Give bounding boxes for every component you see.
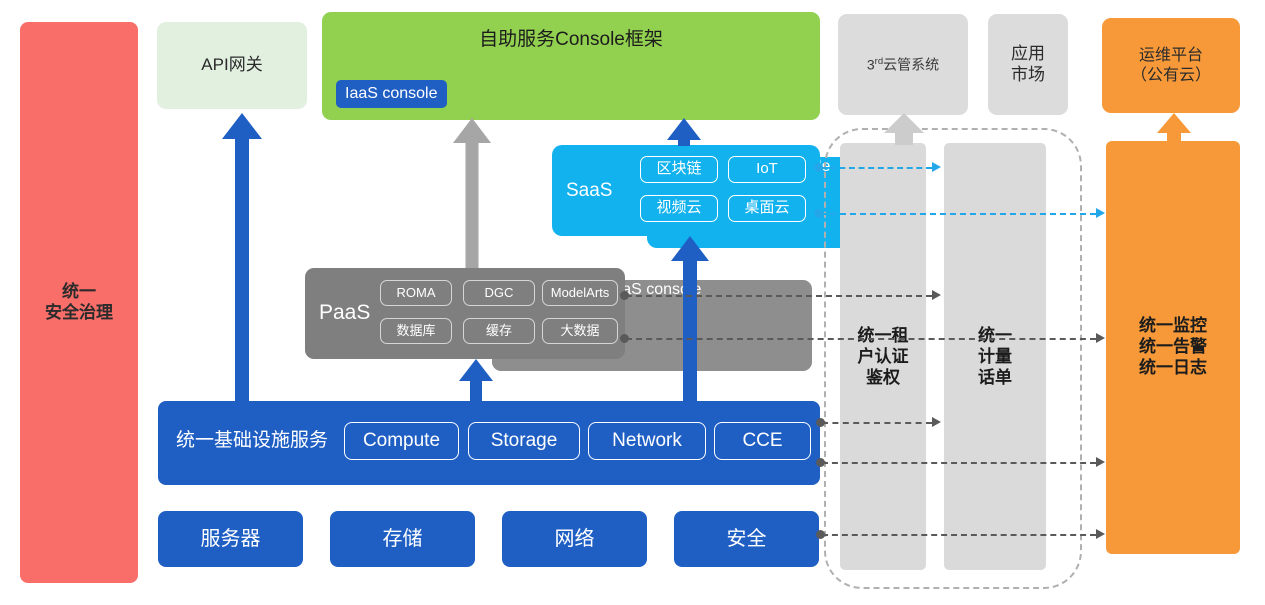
security-governance-label: 统一安全治理	[45, 282, 113, 323]
saas-layer-label: SaaS	[566, 179, 612, 202]
ops-platform-label: 运维平台（公有云）	[1131, 46, 1211, 85]
hardware-network-box[interactable]: 网络	[502, 511, 647, 567]
saas-service-iot[interactable]: IoT	[728, 156, 806, 183]
hardware-storage-box[interactable]: 存储	[330, 511, 475, 567]
arrow-infra-to-paas	[456, 359, 496, 402]
paas-layer-label: PaaS	[319, 300, 370, 326]
hardware-server-box[interactable]: 服务器	[158, 511, 303, 567]
shared-service-auth-column[interactable]: 统一租户认证鉴权	[840, 143, 926, 570]
connector-saas-to-auth	[820, 167, 932, 169]
arrow-infra-to-api-gateway	[222, 113, 262, 401]
arrow-paas-to-console	[452, 118, 492, 268]
saas-service-desktop-cloud[interactable]: 桌面云	[728, 195, 806, 222]
connector-saas-to-ops	[820, 213, 1096, 215]
console-framework-box[interactable]: 自助服务Console框架 IaaS console PaaS console …	[322, 12, 820, 120]
console-framework-title: 自助服务Console框架	[322, 28, 820, 51]
api-gateway-box[interactable]: API网关	[157, 22, 307, 109]
app-market-box[interactable]: 应用市场	[988, 14, 1068, 115]
connector-infra-to-auth	[822, 422, 932, 424]
third-party-cloud-mgmt-label: 3rd云管系统	[867, 56, 939, 74]
shared-service-billing-column[interactable]: 统一计量话单	[944, 143, 1046, 570]
connector-paas-to-auth	[626, 295, 932, 297]
paas-service-database[interactable]: 数据库	[380, 318, 452, 344]
paas-service-bigdata[interactable]: 大数据	[542, 318, 618, 344]
paas-service-dgc[interactable]: DGC	[463, 280, 535, 306]
connector-arrowhead-saas-1	[932, 162, 941, 172]
connector-arrowhead-paas-2	[1096, 333, 1105, 343]
connector-arrowhead-paas-1	[932, 290, 941, 300]
connector-arrowhead-infra-1	[932, 417, 941, 427]
saas-service-blockchain[interactable]: 区块链	[640, 156, 718, 183]
infra-service-cce[interactable]: CCE	[714, 422, 811, 460]
third-party-cloud-mgmt-box[interactable]: 3rd云管系统	[838, 14, 968, 115]
arrow-saas-to-console	[664, 118, 704, 146]
connector-hardware-to-ops	[822, 534, 1096, 536]
saas-layer-box[interactable]: SaaS 区块链 IoT 视频云 桌面云	[552, 145, 820, 236]
hardware-security-box[interactable]: 安全	[674, 511, 819, 567]
paas-service-cache[interactable]: 缓存	[463, 318, 535, 344]
saas-service-video-cloud[interactable]: 视频云	[640, 195, 718, 222]
paas-service-roma[interactable]: ROMA	[380, 280, 452, 306]
arrow-shared-to-third-party	[882, 113, 926, 145]
infra-service-compute[interactable]: Compute	[344, 422, 459, 460]
ops-monitoring-column[interactable]: 统一监控统一告警统一日志	[1106, 141, 1240, 554]
ops-monitoring-label: 统一监控统一告警统一日志	[1139, 316, 1207, 378]
architecture-diagram: 统一安全治理 API网关 自助服务Console框架 IaaS console …	[0, 0, 1265, 605]
infra-service-storage[interactable]: Storage	[468, 422, 580, 460]
app-market-label: 应用市场	[1011, 44, 1045, 85]
unified-infrastructure-label: 统一基础设施服务	[176, 429, 328, 452]
connector-arrowhead-hardware	[1096, 529, 1105, 539]
connector-arrowhead-saas-2	[1096, 208, 1105, 218]
arrow-infra-to-saas	[670, 236, 710, 402]
connector-paas-to-ops	[626, 338, 1096, 340]
connector-arrowhead-infra-2	[1096, 457, 1105, 467]
paas-layer-box[interactable]: PaaS ROMA DGC ModelArts 数据库 缓存 大数据	[305, 268, 625, 359]
api-gateway-label: API网关	[201, 55, 262, 76]
arrow-ops-column-to-platform	[1155, 113, 1193, 143]
unified-infrastructure-box[interactable]: 统一基础设施服务 Compute Storage Network CCE	[158, 401, 820, 485]
iaas-console-button[interactable]: IaaS console	[336, 80, 447, 108]
infra-service-network[interactable]: Network	[588, 422, 706, 460]
paas-service-modelarts[interactable]: ModelArts	[542, 280, 618, 306]
connector-infra-to-ops	[822, 462, 1096, 464]
ops-platform-box[interactable]: 运维平台（公有云）	[1102, 18, 1240, 113]
security-governance-column[interactable]: 统一安全治理	[20, 22, 138, 583]
